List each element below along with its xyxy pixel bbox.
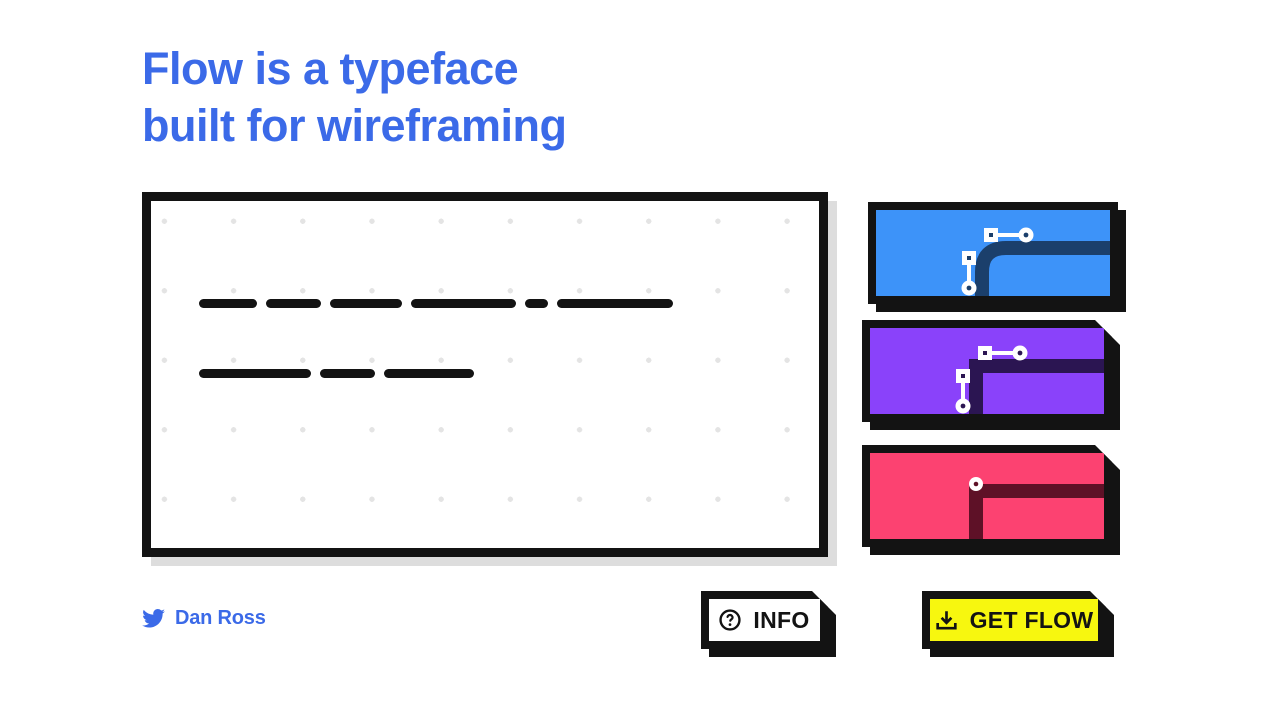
canvas-frame [142,192,828,557]
slide-root: Flow is a typeface built for wireframing [0,0,1280,714]
button-frame: GET FLOW [922,591,1106,649]
get-flow-button-label: GET FLOW [970,607,1094,634]
placeholder-bar [320,369,375,378]
page-title: Flow is a typeface built for wireframing [142,40,762,154]
get-flow-button[interactable]: GET FLOW [922,591,1106,649]
curve-preview-blue[interactable] [868,202,1118,304]
bezier-corner-sharp-svg [870,328,1104,414]
button-content: GET FLOW [930,599,1098,641]
button-content: INFO [709,599,820,641]
placeholder-bar [411,299,516,308]
panel-artwork [876,210,1110,296]
placeholder-text-row [199,369,474,378]
author-credit[interactable]: Dan Ross [142,607,266,630]
panel-frame [862,445,1112,547]
placeholder-bar [330,299,402,308]
download-icon [935,609,958,632]
panel-frame [862,320,1112,422]
placeholder-bar [199,299,257,308]
canvas-dot-grid [151,201,819,548]
placeholder-bar [525,299,548,308]
corner-node-svg [870,453,1104,539]
panel-frame [868,202,1118,304]
info-button-label: INFO [753,607,809,634]
panel-artwork [870,453,1104,539]
panel-artwork [870,328,1104,414]
curve-preview-pink[interactable] [862,445,1112,547]
twitter-bird-icon[interactable] [142,609,165,628]
author-name: Dan Ross [175,607,266,630]
placeholder-bar [384,369,474,378]
info-button[interactable]: INFO [701,591,828,649]
bezier-curve-rounded-svg [876,210,1110,296]
placeholder-bar [557,299,673,308]
question-circle-icon [719,609,741,631]
placeholder-bar [199,369,311,378]
button-frame: INFO [701,591,828,649]
wireframe-canvas [142,192,828,557]
placeholder-text-row [199,299,673,308]
curve-preview-purple[interactable] [862,320,1112,422]
placeholder-bar [266,299,321,308]
